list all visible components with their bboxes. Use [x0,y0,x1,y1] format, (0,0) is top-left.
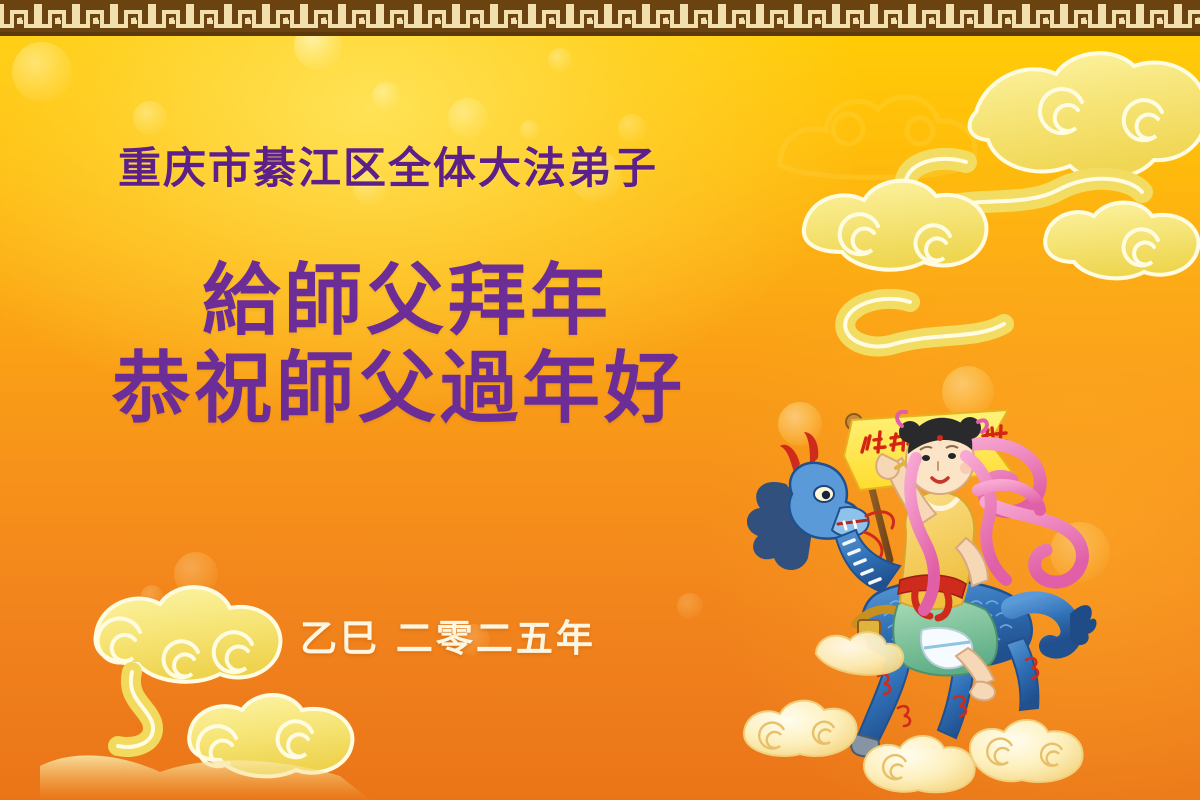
cloud-ghost-top-right [770,45,1000,195]
cloud-bottom-left [40,570,370,800]
greeting-card: 重庆市綦江区全体大法弟子 給師父拜年 恭祝師父過年好 乙巳 二零二五年 [0,0,1200,800]
bokeh-circle [448,98,488,138]
greeting-block: 給師父拜年 恭祝師父過年好 [112,262,812,429]
bokeh-circle [372,82,400,110]
illustration-child-riding-dragon: 法輪大法好 [740,398,1100,800]
date-line: 乙巳 二零二五年 [300,608,596,662]
bokeh-circle [677,593,703,619]
cloud-top-right [790,40,1200,370]
greeting-line-1: 給師父拜年 [202,262,812,342]
bokeh-circle [133,101,167,135]
bokeh-circle [141,585,163,607]
greeting-line-2: 恭祝師父過年好 [112,350,812,430]
organization-line: 重庆市綦江区全体大法弟子 [118,134,658,196]
bokeh-circle [12,42,72,102]
bokeh-circle [174,552,218,596]
border-base-line [0,32,1200,36]
bokeh-circle [548,48,572,72]
top-meander-border [0,0,1200,36]
